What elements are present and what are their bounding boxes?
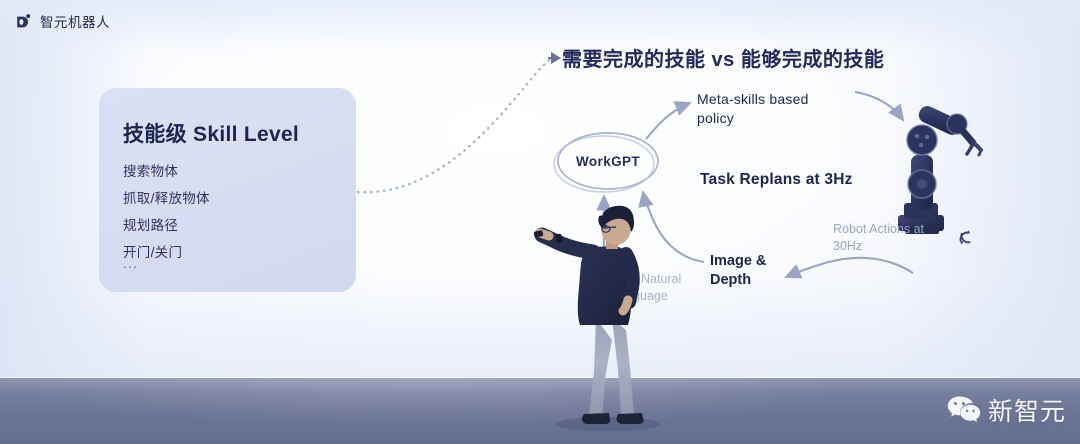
skill-list-item: 抓取/释放物体 <box>123 187 210 207</box>
meta-skills-label: Meta-skills based policy <box>697 90 817 128</box>
image-depth-label: Image & Depth <box>710 252 766 290</box>
image-depth-line-2: Depth <box>710 271 766 290</box>
skill-list-ellipsis: ... <box>123 256 138 271</box>
screenshot-root: 智元机器人 技能级 Skill Level 搜索物体 抓取/释放物体 规划路径 … <box>0 0 1080 444</box>
meta-skills-line-2: policy <box>697 109 817 128</box>
meta-skills-line-1: Meta-skills based <box>697 90 817 109</box>
skill-list-item: 规划路径 <box>123 214 210 234</box>
brand-header: 智元机器人 <box>14 11 110 31</box>
watermark: 新智元 <box>947 392 1066 428</box>
skill-level-panel: 技能级 Skill Level 搜索物体 抓取/释放物体 规划路径 开门/关门 … <box>99 88 356 292</box>
stage-floor <box>0 378 1080 444</box>
watermark-text: 新智元 <box>988 392 1066 428</box>
task-nl-line-1: Task in Natural <box>585 271 695 288</box>
slide-headline: 需要完成的技能 vs 能够完成的技能 <box>562 43 884 72</box>
robot-brand-logo-icon <box>14 12 33 31</box>
brand-name: 智元机器人 <box>40 11 110 31</box>
robot-actions-line-1: Robot Actions at <box>833 221 963 238</box>
skill-list-item: 搜索物体 <box>123 160 210 180</box>
robot-actions-label: Robot Actions at 30Hz <box>833 221 963 255</box>
task-replans-label: Task Replans at 3Hz <box>700 171 853 189</box>
wechat-icon <box>947 395 981 425</box>
workgpt-node-label: WorkGPT <box>576 154 640 169</box>
image-depth-line-1: Image & <box>710 252 766 271</box>
skill-panel-title: 技能级 Skill Level <box>123 118 299 148</box>
robot-actions-line-2: 30Hz <box>833 238 963 255</box>
task-nl-line-2: Language <box>585 288 695 305</box>
skill-panel-list: 搜索物体 抓取/释放物体 规划路径 开门/关门 <box>123 160 210 261</box>
task-natural-language-label: Task in Natural Language <box>585 271 695 305</box>
